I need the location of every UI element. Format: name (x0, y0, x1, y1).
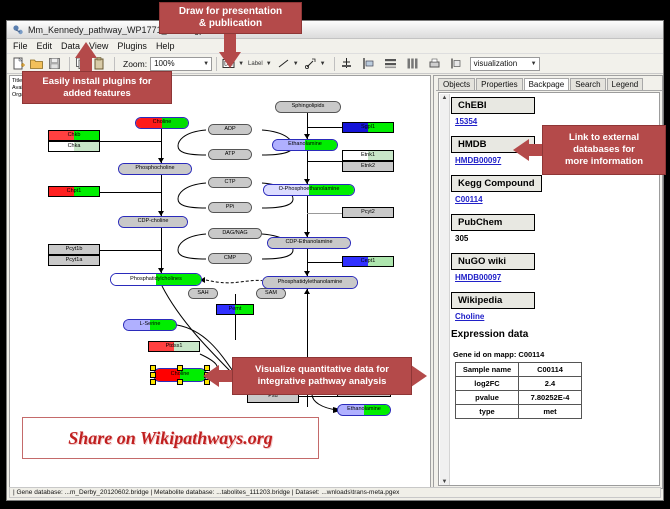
callout-draw-for-presentation: Draw for presentation & publication (159, 2, 302, 34)
node-label: CMP (224, 256, 236, 262)
edge-sgpl1-to-main (307, 127, 342, 128)
pathway-node-choline_top[interactable]: Choline (135, 117, 189, 129)
cell-type-value: met (519, 405, 582, 419)
edge-pcyt1-to-main (100, 250, 161, 251)
expression-data-header: Expression data (451, 329, 659, 340)
edge-psd-to-main (299, 396, 337, 397)
callout-draw-tail-bar (224, 34, 236, 54)
node-label: Choline (153, 120, 172, 126)
table-row: log2FC 2.4 (456, 377, 582, 391)
chevron-down-icon: ▼ (293, 61, 299, 67)
line-icon[interactable] (276, 56, 291, 71)
tab-underline (436, 90, 662, 91)
node-label: Pemt (229, 307, 242, 313)
window-title-bar: Mm_Kennedy_pathway_WP1771_45176.gpml (7, 21, 663, 39)
node-label: CDP-Ethanolamine (285, 240, 332, 246)
table-row: type met (456, 405, 582, 419)
callout-plugins-tail-bar (80, 56, 92, 72)
node-label: DAG/NAG (222, 231, 247, 237)
node-label: Cept1 (361, 259, 376, 265)
node-label: Etnk2 (361, 164, 375, 170)
callout-visualize-quantitative-data: Visualize quantitative data for integrat… (232, 357, 412, 395)
status-bar: | Gene database: ...m_Derby_20120602.bri… (9, 487, 661, 498)
pathway-node-chkb[interactable]: Chkb (48, 130, 100, 141)
receptor-shape-icon[interactable] (303, 56, 318, 71)
pathway-node-ethanolamine1[interactable]: Ethanolamine (272, 139, 338, 151)
callout-links-line-1: Link to external (565, 132, 643, 144)
pathway-node-lserine1[interactable]: L-Serine (123, 319, 177, 331)
zoom-value: 100% (154, 59, 174, 68)
pathway-node-sah[interactable]: SAH (188, 288, 218, 299)
node-label: Ethanolamine (288, 142, 322, 148)
node-label: Chkb (68, 133, 81, 139)
node-label: Ptdss1 (166, 344, 183, 350)
open-folder-icon[interactable] (29, 56, 44, 71)
toolbar-separator-4 (334, 57, 335, 71)
toolbar-separator-2 (114, 57, 115, 71)
node-label: ADP (224, 127, 235, 133)
cell-log2fc-key: log2FC (456, 377, 519, 391)
node-label: Phosphatidylcholines (130, 277, 182, 283)
arrow-icon (304, 289, 310, 294)
share-banner-text: Share on Wikipathways.org (68, 428, 273, 449)
pathway-node-pcyt2[interactable]: Pcyt2 (342, 207, 394, 218)
node-label: Etnk1 (361, 153, 375, 159)
callout-visualize-line-1: Visualize quantitative data for (255, 364, 389, 376)
zoom-combo[interactable]: 100% ▼ (150, 57, 212, 71)
paste-icon[interactable] (92, 56, 107, 71)
edge-etnk-to-main (307, 161, 342, 162)
status-text: | Gene database: ...m_Derby_20120602.bri… (13, 489, 399, 496)
node-label: O-Phosphoethanolamine (279, 187, 340, 193)
pathway-node-pemt[interactable]: Pemt (216, 304, 254, 315)
pathway-node-sam[interactable]: SAM (256, 288, 286, 299)
pathway-node-atp[interactable]: ATP (208, 149, 252, 160)
pathway-node-ophosphoeth[interactable]: O-Phosphoethanolamine (263, 184, 355, 196)
callout-plugins-line-2: added features (42, 88, 151, 100)
edge-ophospho-cdpeth (307, 196, 308, 237)
label-tool-label: Label (248, 61, 263, 67)
shape-dropdown[interactable]: ▼ (303, 56, 330, 71)
edge-chk-to-main (100, 141, 161, 142)
line-dropdown[interactable]: ▼ (276, 56, 303, 71)
node-label: Phosphatidylethanolamine (278, 280, 343, 286)
callout-plugins-arrow (75, 42, 97, 58)
db-header-chebi: ChEBI (451, 97, 535, 114)
share-banner: Share on Wikipathways.org (22, 417, 319, 459)
callout-visualize-arrow-right (411, 365, 427, 387)
callout-plugins-line-1: Easily install plugins for (42, 76, 151, 88)
callout-draw-line-2: & publication (179, 18, 282, 30)
pathway-node-phosphocholine[interactable]: Phosphocholine (118, 163, 192, 175)
edge-cept1-to-main (307, 262, 342, 263)
pathway-node-chka[interactable]: Chka (48, 141, 100, 152)
db-link-wikipedia[interactable]: Choline (455, 312, 659, 321)
align-center-icon[interactable] (339, 56, 354, 71)
callout-draw-line-1: Draw for presentation (179, 6, 282, 18)
callout-draw-arrow (219, 52, 241, 68)
pathway-node-etnk1[interactable]: Etnk1 (342, 150, 394, 161)
cell-log2fc-value: 2.4 (519, 377, 582, 391)
cell-sample-name-value: C00114 (519, 363, 582, 377)
menu-item-help[interactable]: Help (156, 41, 175, 51)
node-label: Pcyt1a (66, 258, 83, 264)
table-row: Sample name C00114 (456, 363, 582, 377)
expression-table: Sample name C00114 log2FC 2.4 pvalue 7.8… (455, 362, 582, 419)
visualization-combo[interactable]: visualization ▼ (470, 57, 540, 71)
chevron-down-icon: ▼ (203, 61, 209, 67)
edge-pemt-to-dash (235, 294, 236, 340)
pathway-node-ppi[interactable]: PPi (208, 202, 252, 213)
node-label: Sphingolipids (292, 104, 325, 110)
node-label: SAH (197, 291, 208, 297)
scroll-down-icon[interactable]: ▼ (440, 478, 449, 486)
selection-handle-3[interactable] (150, 372, 156, 378)
print-icon[interactable] (427, 56, 442, 71)
toolbar-separator-3 (216, 57, 217, 71)
node-label: L-Serine (140, 322, 161, 328)
pathway-node-sphingolipids[interactable]: Sphingolipids (275, 101, 341, 113)
db-header-wikipedia: Wikipedia (451, 292, 535, 309)
node-label: SAM (265, 291, 277, 297)
node-label: CTP (225, 180, 236, 186)
pathvisio-icon (12, 24, 24, 36)
chevron-down-icon: ▼ (320, 61, 326, 67)
node-label: PPi (226, 205, 235, 211)
selection-handle-1[interactable] (177, 365, 183, 371)
node-label: CDP-choline (138, 219, 169, 225)
new-file-icon[interactable] (11, 56, 26, 71)
gene-id-on-mapp: Gene id on mapp: C00114 (453, 350, 659, 359)
visualization-value: visualization (474, 59, 518, 68)
scroll-up-icon[interactable]: ▲ (440, 94, 449, 102)
pathway-node-pcyt1a[interactable]: Pcyt1a (48, 255, 100, 266)
pathway-node-adp[interactable]: ADP (208, 124, 252, 135)
align-left-icon[interactable] (361, 56, 376, 71)
cell-sample-name-key: Sample name (456, 363, 519, 377)
callout-link-external-databases: Link to external databases for more info… (542, 125, 666, 175)
chevron-down-icon: ▼ (266, 61, 272, 67)
db-link-nugo[interactable]: HMDB00097 (455, 273, 659, 282)
stack-icon[interactable] (383, 56, 398, 71)
pathway-node-dagnag[interactable]: DAG/NAG (208, 228, 262, 239)
callout-easily-install-plugins: Easily install plugins for added feature… (22, 71, 172, 104)
pathway-node-cdp_eth[interactable]: CDP-Ethanolamine (267, 237, 351, 249)
edge-phosphocholine-cdpcholine (161, 175, 162, 216)
edge-chpt1-to-main (100, 192, 161, 193)
pathway-node-ethanolamine2[interactable]: Ethanolamine (337, 404, 391, 416)
screenshot-root: Mm_Kennedy_pathway_WP1771_45176.gpml Fil… (0, 0, 670, 509)
menu-item-plugins[interactable]: Plugins (117, 41, 147, 51)
edge-cdpcholine-ptdcholines (161, 228, 162, 273)
pathway-node-ctp[interactable]: CTP (208, 177, 252, 188)
save-icon[interactable] (47, 56, 62, 71)
selection-handle-0[interactable] (150, 365, 156, 371)
db-header-nugo-wiki: NuGO wiki (451, 253, 535, 270)
pathway-node-cept1[interactable]: Cept1 (342, 256, 394, 267)
db-header-kegg-compound: Kegg Compound (451, 175, 542, 192)
pathway-node-chpt1[interactable]: Chpt1 (48, 186, 100, 197)
pathway-node-ptdethanol[interactable]: Phosphatidylethanolamine (262, 276, 358, 289)
distribute-icon[interactable] (405, 56, 420, 71)
backpage-scrollbar[interactable]: ▲ ▼ (440, 94, 450, 486)
node-label: Phosphocholine (135, 166, 174, 172)
callout-links-line-3: more information (565, 156, 643, 168)
menu-item-edit[interactable]: Edit (37, 41, 53, 51)
pathway-node-pcyt1b[interactable]: Pcyt1b (48, 244, 100, 255)
node-label: Chka (68, 144, 81, 150)
callout-visualize-line-2: integrative pathway analysis (255, 376, 389, 388)
toolbar-separator-1 (69, 57, 70, 71)
cell-pvalue-value: 7.80252E-4 (519, 391, 582, 405)
node-label: Choline (171, 372, 190, 378)
chevron-down-icon: ▼ (531, 61, 537, 67)
zoom-label: Zoom: (123, 59, 147, 69)
callout-links-line-2: databases for (565, 144, 643, 156)
db-link-kegg[interactable]: C00114 (455, 195, 659, 204)
node-label: Chpt1 (67, 189, 82, 195)
menu-bar: File Edit Data View Plugins Help (7, 39, 663, 54)
pathway-node-cmp[interactable]: CMP (208, 253, 252, 264)
pathway-node-etnk2[interactable]: Etnk2 (342, 161, 394, 172)
pathway-node-sgpl1[interactable]: Sgpl1 (342, 122, 394, 133)
node-label: Ethanolamine (347, 407, 381, 413)
table-row: pvalue 7.80252E-4 (456, 391, 582, 405)
callout-visualize-arrow (203, 365, 219, 387)
node-label: Pcyt1b (66, 247, 83, 253)
node-label: Pcyt2 (361, 210, 375, 216)
callout-links-arrow (513, 139, 529, 161)
label-dropdown[interactable]: Label ▼ (248, 61, 276, 67)
cell-type-key: type (456, 405, 519, 419)
selection-handle-6[interactable] (177, 379, 183, 385)
node-label: ATP (225, 152, 235, 158)
db-value-pubchem: 305 (455, 234, 659, 243)
menu-item-file[interactable]: File (13, 41, 28, 51)
pathway-node-cdp_choline[interactable]: CDP-choline (118, 216, 188, 228)
db-header-pubchem: PubChem (451, 214, 535, 231)
selection-handle-5[interactable] (150, 379, 156, 385)
order-icon[interactable] (449, 56, 464, 71)
edge-pcyt2-to-main (307, 213, 342, 214)
pathway-node-ptdss1[interactable]: Ptdss1 (148, 341, 200, 352)
pathway-node-ptdcholines[interactable]: Phosphatidylcholines (110, 273, 202, 286)
node-label: Sgpl1 (361, 125, 375, 131)
cell-pvalue-key: pvalue (456, 391, 519, 405)
